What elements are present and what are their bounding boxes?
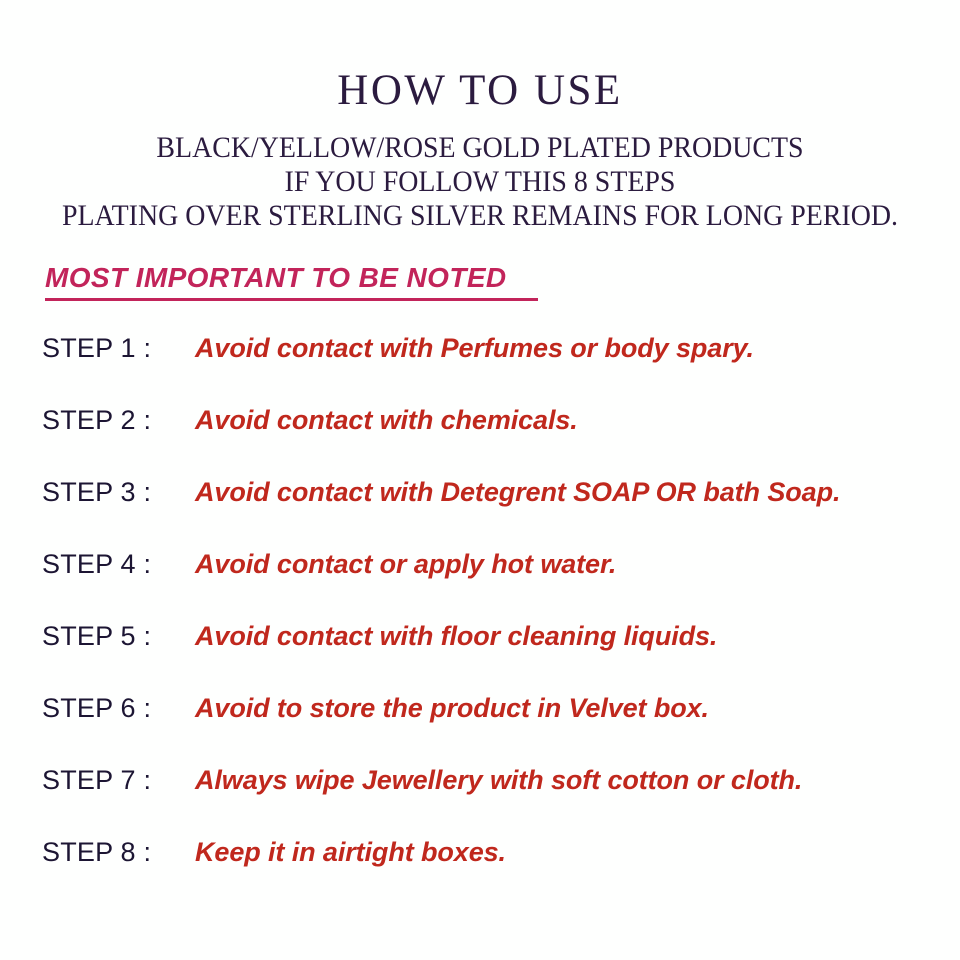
step-text: Avoid contact with Detegrent SOAP OR bat… — [195, 477, 840, 507]
step-label: STEP 7 : — [42, 765, 195, 795]
care-instructions-page: HOW TO USE BLACK/YELLOW/ROSE GOLD PLATED… — [0, 0, 960, 960]
step-text: Avoid contact with floor cleaning liquid… — [195, 621, 717, 651]
step-label: STEP 2 : — [42, 405, 195, 435]
step-text: Keep it in airtight boxes. — [195, 837, 506, 867]
list-item: STEP 3 : Avoid contact with Detegrent SO… — [0, 477, 960, 549]
step-label: STEP 1 : — [42, 333, 195, 363]
step-label: STEP 3 : — [42, 477, 195, 507]
step-text: Avoid contact or apply hot water. — [195, 549, 616, 579]
list-item: STEP 8 : Keep it in airtight boxes. — [0, 837, 960, 909]
notice-heading-block: MOST IMPORTANT TO BE NOTED — [45, 262, 538, 301]
notice-underline — [45, 298, 538, 301]
subtitle-line-1: BLACK/YELLOW/ROSE GOLD PLATED PRODUCTS — [34, 130, 927, 165]
header-block: HOW TO USE BLACK/YELLOW/ROSE GOLD PLATED… — [0, 0, 960, 233]
subtitle-block: BLACK/YELLOW/ROSE GOLD PLATED PRODUCTS I… — [0, 116, 960, 233]
step-label: STEP 5 : — [42, 621, 195, 651]
steps-list: STEP 1 : Avoid contact with Perfumes or … — [0, 333, 960, 909]
list-item: STEP 6 : Avoid to store the product in V… — [0, 693, 960, 765]
step-text: Always wipe Jewellery with soft cotton o… — [195, 765, 802, 795]
step-text: Avoid contact with chemicals. — [195, 405, 578, 435]
step-label: STEP 8 : — [42, 837, 195, 867]
list-item: STEP 2 : Avoid contact with chemicals. — [0, 405, 960, 477]
list-item: STEP 1 : Avoid contact with Perfumes or … — [0, 333, 960, 405]
step-text: Avoid to store the product in Velvet box… — [195, 693, 709, 723]
list-item: STEP 4 : Avoid contact or apply hot wate… — [0, 549, 960, 621]
list-item: STEP 5 : Avoid contact with floor cleani… — [0, 621, 960, 693]
subtitle-line-3: PLATING OVER STERLING SILVER REMAINS FOR… — [34, 199, 927, 233]
subtitle-line-2: IF YOU FOLLOW THIS 8 STEPS — [34, 165, 927, 199]
list-item: STEP 7 : Always wipe Jewellery with soft… — [0, 765, 960, 837]
page-title: HOW TO USE — [0, 0, 960, 116]
step-label: STEP 6 : — [42, 693, 195, 723]
step-text: Avoid contact with Perfumes or body spar… — [195, 333, 754, 363]
step-label: STEP 4 : — [42, 549, 195, 579]
notice-heading: MOST IMPORTANT TO BE NOTED — [45, 262, 507, 294]
